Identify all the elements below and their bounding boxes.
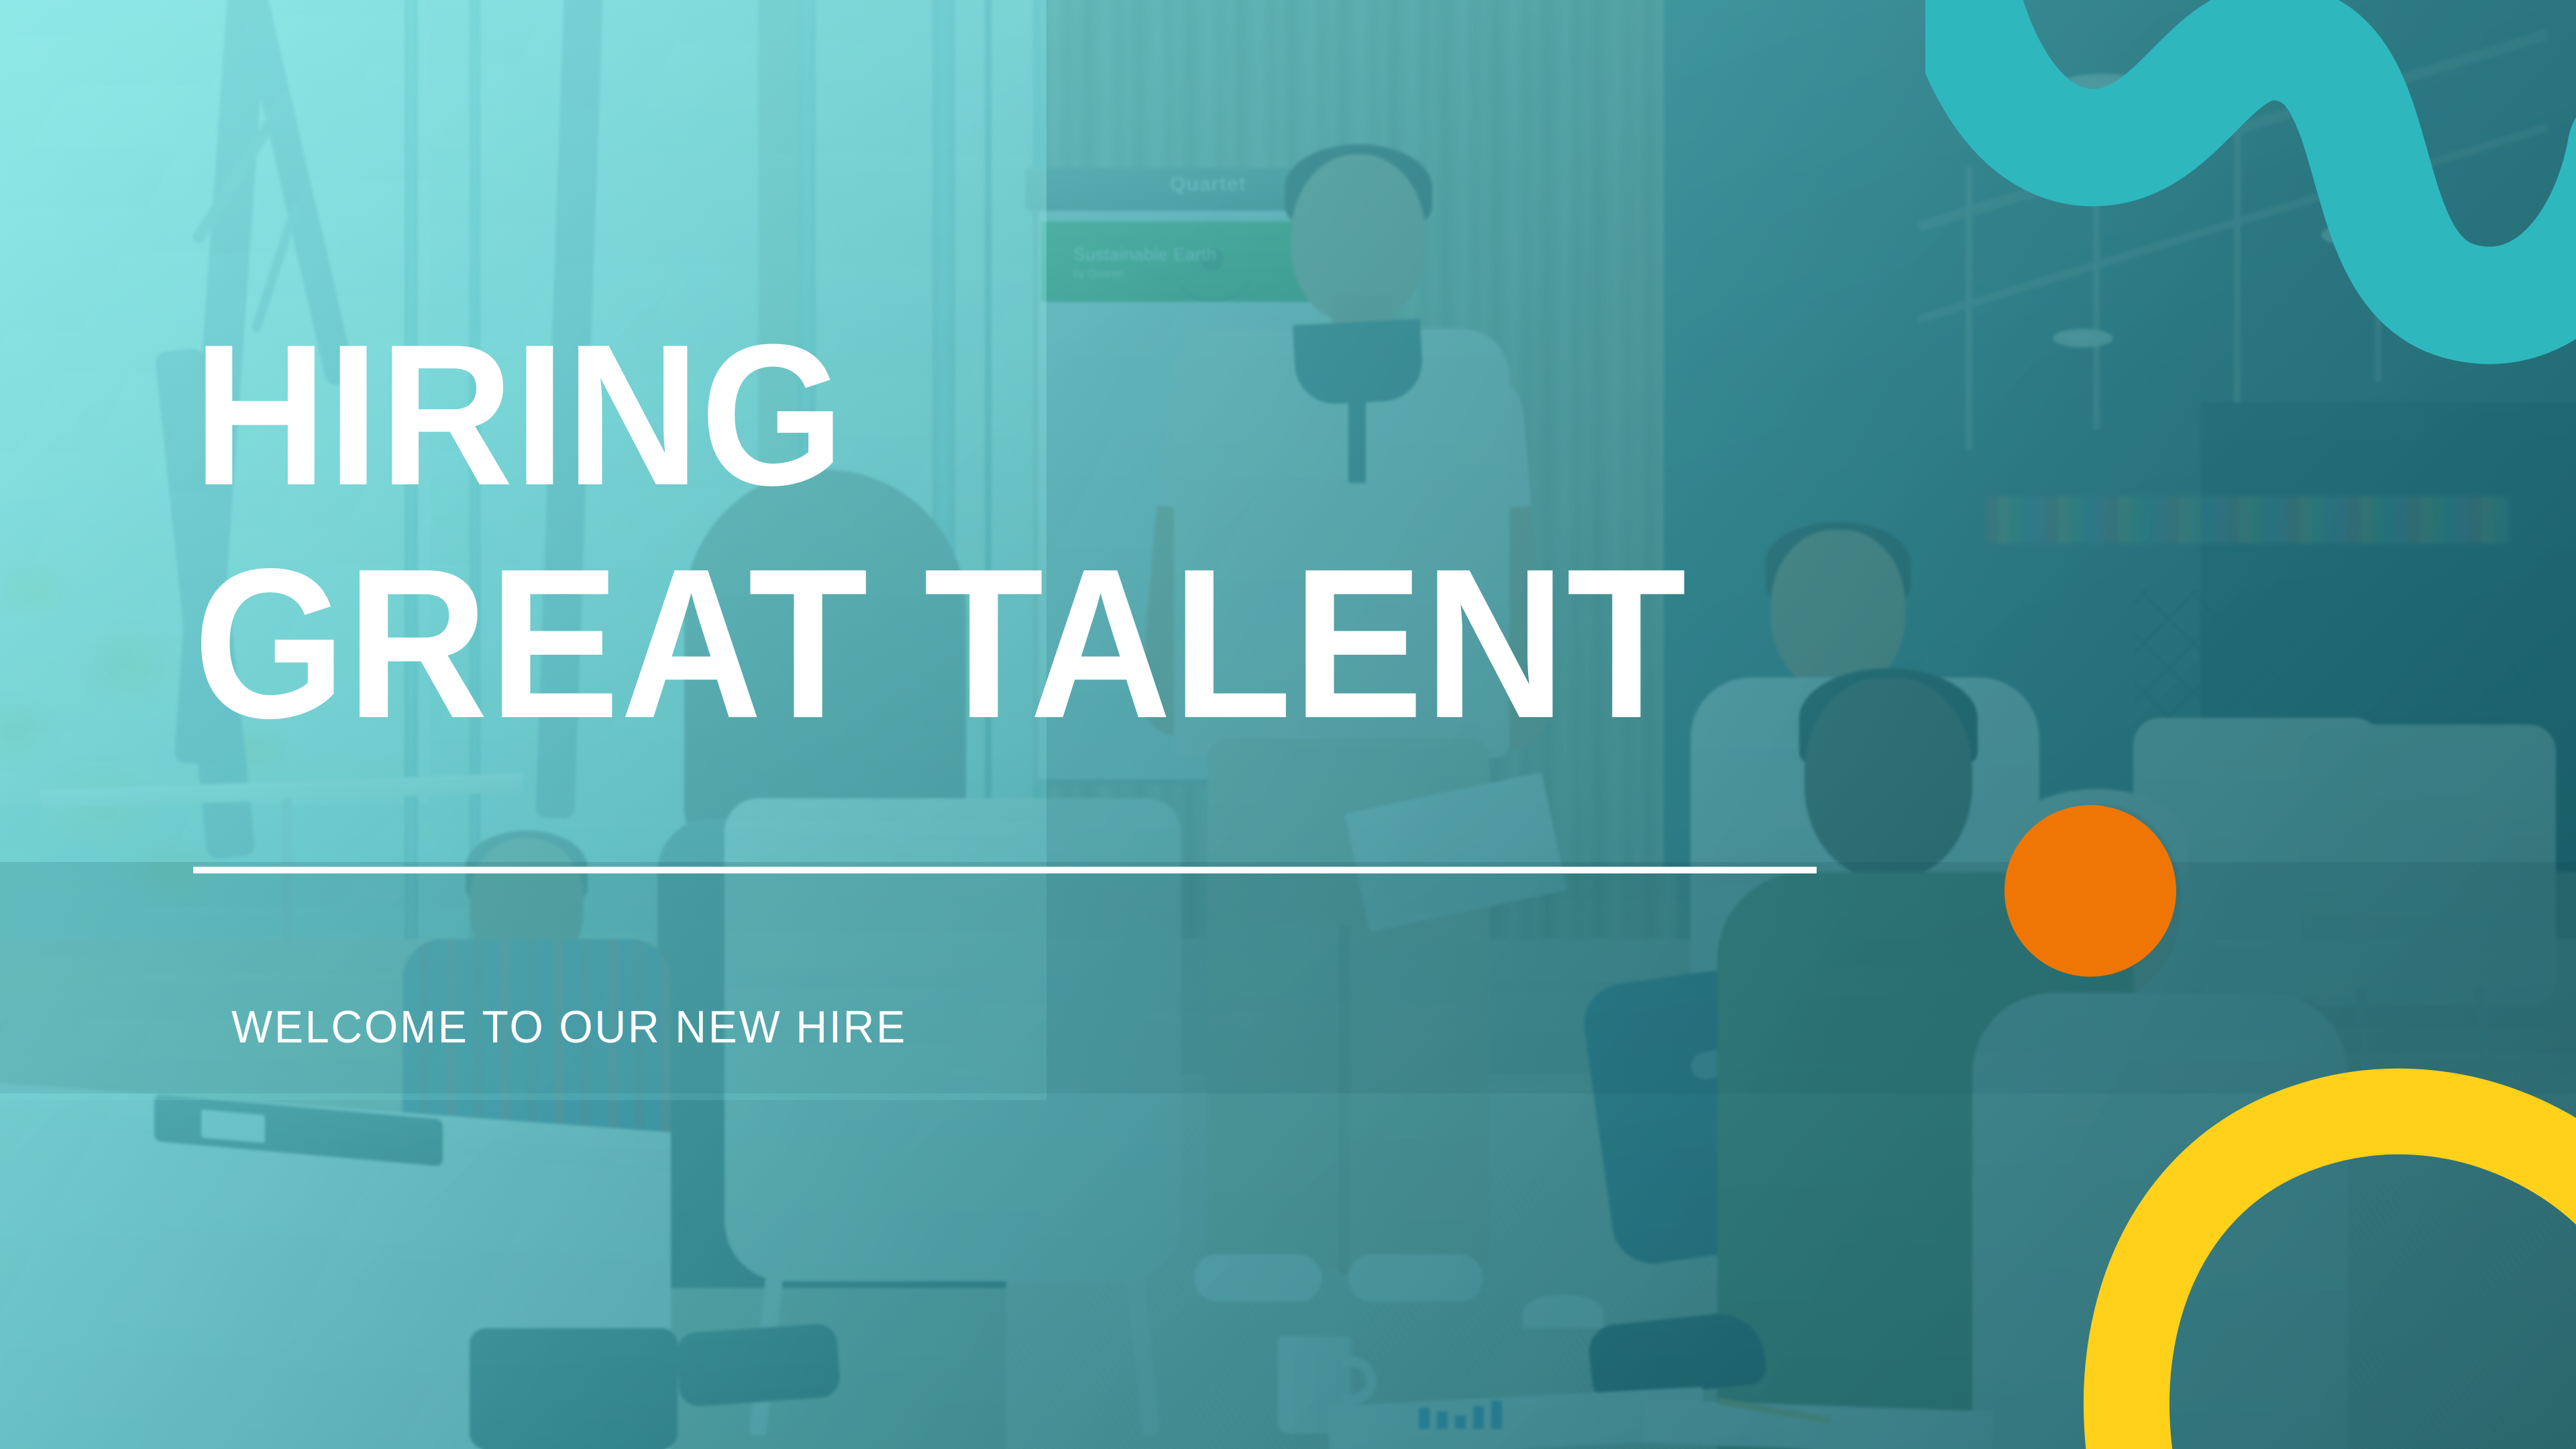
yellow-arc-decoration [2066,1033,2576,1449]
divider-rule [193,867,1817,873]
page-subtitle: WELCOME TO OUR NEW HIRE [231,1001,907,1053]
hiring-poster: Quartet Sustainable Earth by Quartet [0,0,2576,1449]
page-title: HIRING GREAT TALENT [193,315,1687,750]
headline-line-2: GREAT TALENT [193,539,1687,750]
orange-circle-decoration [2004,805,2176,977]
teal-squiggle-decoration [1925,0,2576,436]
headline-line-1: HIRING [193,315,1687,515]
